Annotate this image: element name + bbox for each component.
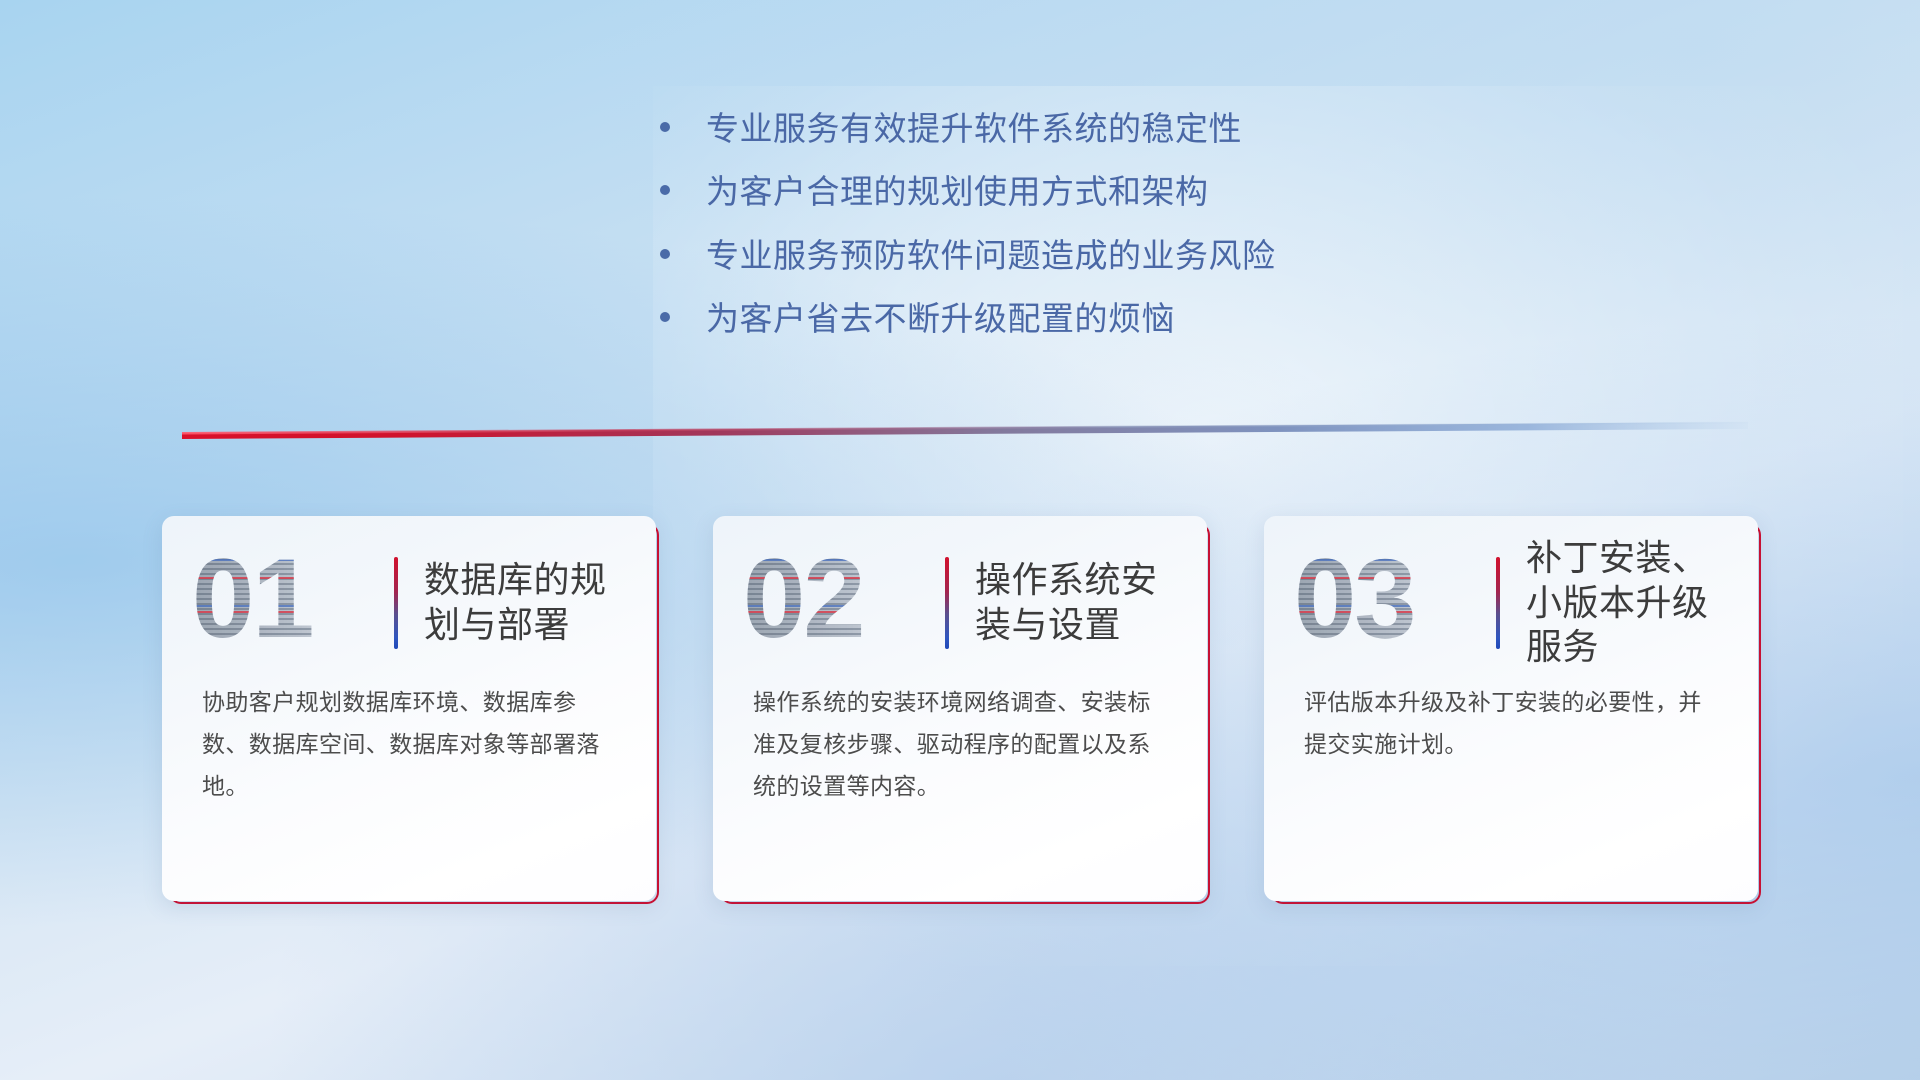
card-description: 评估版本升级及补丁安装的必要性，并提交实施计划。 [1264,668,1758,766]
card-description: 操作系统的安装环境网络调查、安装标准及复核步骤、驱动程序的配置以及系统的设置等内… [713,668,1207,808]
card-title: 操作系统安装与设置 [975,558,1207,647]
bullet-text: 为客户合理的规划使用方式和架构 [706,171,1209,212]
card-title: 数据库的规划与部署 [424,558,656,647]
slide-canvas: 专业服务有效提升软件系统的稳定性 为客户合理的规划使用方式和架构 专业服务预防软… [0,0,1920,1080]
service-card[interactable]: 01 01 数据库的规划与部署 协助客户规划数据库环境、数据库参数、数据库空间、… [162,516,656,901]
card-title: 补丁安装、小版本升级服务 [1526,536,1758,670]
card-divider-rule [394,557,398,649]
card-number-graphic: 03 03 [1290,543,1496,663]
card-surface: 03 03 补丁安装、小版本升级服务 评估版本升级及补丁安装的必要性，并提交实施… [1264,516,1758,901]
bullet-dot-icon [660,312,670,322]
bullet-text: 专业服务预防软件问题造成的业务风险 [706,235,1276,276]
card-number: 03 [1290,543,1494,655]
card-divider-rule [945,557,949,649]
list-item: 为客户省去不断升级配置的烦恼 [660,298,1276,339]
bullet-dot-icon [660,185,670,195]
bullet-dot-icon [660,122,670,132]
service-card[interactable]: 03 03 补丁安装、小版本升级服务 评估版本升级及补丁安装的必要性，并提交实施… [1264,516,1758,901]
card-row: 01 01 数据库的规划与部署 协助客户规划数据库环境、数据库参数、数据库空间、… [0,516,1920,901]
bullet-text: 为客户省去不断升级配置的烦恼 [706,298,1175,339]
section-divider [182,420,1748,442]
list-item: 专业服务预防软件问题造成的业务风险 [660,235,1276,276]
card-surface: 01 01 数据库的规划与部署 协助客户规划数据库环境、数据库参数、数据库空间、… [162,516,656,901]
list-item: 专业服务有效提升软件系统的稳定性 [660,108,1276,149]
service-card[interactable]: 02 02 操作系统安装与设置 操作系统的安装环境网络调查、安装标准及复核步骤、… [713,516,1207,901]
card-description: 协助客户规划数据库环境、数据库参数、数据库空间、数据库对象等部署落地。 [162,668,656,808]
bullet-dot-icon [660,249,670,259]
card-header: 01 01 数据库的规划与部署 [162,516,656,668]
card-number: 01 [188,543,392,655]
card-divider-rule [1496,557,1500,649]
card-header: 03 03 补丁安装、小版本升级服务 [1264,516,1758,668]
bullet-list: 专业服务有效提升软件系统的稳定性 为客户合理的规划使用方式和架构 专业服务预防软… [660,108,1276,361]
card-number-graphic: 02 02 [739,543,945,663]
bullet-text: 专业服务有效提升软件系统的稳定性 [706,108,1242,149]
card-number: 02 [739,543,943,655]
card-number-graphic: 01 01 [188,543,394,663]
card-header: 02 02 操作系统安装与设置 [713,516,1207,668]
card-surface: 02 02 操作系统安装与设置 操作系统的安装环境网络调查、安装标准及复核步骤、… [713,516,1207,901]
list-item: 为客户合理的规划使用方式和架构 [660,171,1276,212]
